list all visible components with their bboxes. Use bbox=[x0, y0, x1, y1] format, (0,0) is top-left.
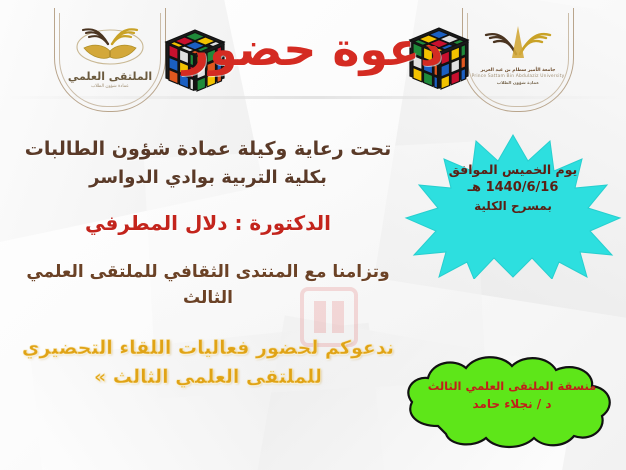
patronage-line-1: تحت رعاية وكيلة عمادة شؤون الطالبات bbox=[8, 138, 408, 161]
forum-note-line-2: الثالث bbox=[8, 288, 408, 309]
university-name-en: Prince Sattam Bin Abdulaziz University bbox=[472, 74, 565, 79]
invitation-poster: الملتقى العلمي عمادة شؤون الطلاب bbox=[0, 0, 626, 470]
cloud-shape-icon bbox=[398, 352, 626, 452]
forum-note-line-1: وتزامنا مع المنتدى الثقافي للملتقى العلم… bbox=[8, 262, 408, 283]
page-title: دعوة حضور bbox=[0, 26, 626, 72]
patron-name: الدكتورة : دلال المطرفي bbox=[8, 211, 408, 235]
patronage-line-2: بكلية التربية بوادي الدواسر bbox=[8, 167, 408, 189]
invite-line-2: للملتقى العلمي الثالث » bbox=[8, 366, 408, 389]
starburst-shape-icon bbox=[404, 133, 622, 279]
forum-logo-caption: الملتقى العلمي عمادة شؤون الطلاب bbox=[68, 70, 152, 89]
poster-header: الملتقى العلمي عمادة شؤون الطلاب bbox=[0, 0, 626, 118]
date-venue-starburst: يوم الخميس الموافق 1440/6/16 هـ بمسرح ال… bbox=[404, 133, 622, 279]
university-dept: عمادة شؤون الطلاب bbox=[472, 80, 565, 85]
poster-body-text: تحت رعاية وكيلة عمادة شؤون الطالبات بكلي… bbox=[8, 120, 408, 389]
forum-logo-sub: عمادة شؤون الطلاب bbox=[68, 84, 152, 89]
coordinator-cloud-badge: منسقة الملتقى العلمي الثالث د / نجلاء حا… bbox=[398, 352, 626, 452]
invite-line-1: ندعوكم لحضور فعاليات اللقاء التحضيري bbox=[8, 337, 408, 360]
